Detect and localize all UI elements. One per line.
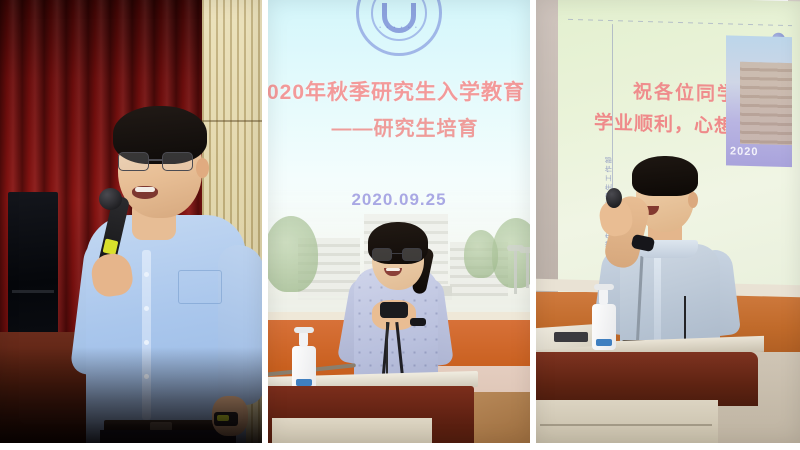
photo-collage: • • • • • • 020年秋季研究生入学教育 ——研究生培育 2020.0… — [0, 0, 800, 450]
bottle-label — [296, 379, 312, 386]
lectern-base — [272, 418, 432, 443]
panel-left — [0, 0, 262, 443]
lectern — [536, 352, 758, 406]
tree — [268, 216, 318, 292]
shirt-button — [144, 272, 149, 277]
microphone — [606, 188, 622, 208]
shirt-placket — [654, 252, 661, 344]
slide-dashed-rule — [568, 19, 792, 26]
lectern-base — [536, 400, 718, 443]
presentation-clicker — [380, 302, 408, 318]
shirt-pocket — [178, 270, 222, 304]
eyeglasses-icon — [372, 248, 424, 261]
eyeglasses-icon — [118, 152, 200, 171]
street-lamp — [526, 252, 529, 288]
device-on-lectern — [554, 332, 588, 342]
bottom-shadow — [0, 347, 262, 443]
hair — [632, 156, 698, 196]
microphone-head — [99, 188, 122, 210]
wristwatch — [410, 318, 426, 326]
street-lamp — [514, 250, 517, 294]
slide-title-line1: 020年秋季研究生入学教育 — [268, 78, 530, 108]
hand-sanitizer-bottle — [592, 304, 616, 350]
panel-right: ▼▼▼ 研究生院 · 学生处 · 研究生工作部 祝各位同学： 学业顺利，心想事成… — [536, 0, 800, 443]
microphone-stand — [386, 322, 388, 380]
slide-photo-card: 2020 — [726, 35, 792, 167]
hand-sanitizer-bottle — [292, 346, 316, 390]
stage-monitor — [8, 192, 58, 342]
left-wall — [536, 0, 558, 300]
slide-date: 2020.09.25 — [268, 190, 530, 210]
photo-card-year: 2020 — [730, 145, 758, 158]
building-photo — [740, 62, 792, 145]
panel-center: • • • • • • 020年秋季研究生入学教育 ——研究生培育 2020.0… — [268, 0, 530, 443]
university-emblem-icon: • • • • • • — [356, 0, 442, 56]
mouth — [132, 186, 158, 199]
shirt-button — [144, 340, 149, 345]
bottle-label — [596, 339, 612, 346]
ear — [688, 192, 698, 208]
tree — [464, 230, 498, 278]
shirt-button — [144, 306, 149, 311]
slide-title-line2: ——研究生培育 — [280, 112, 530, 141]
